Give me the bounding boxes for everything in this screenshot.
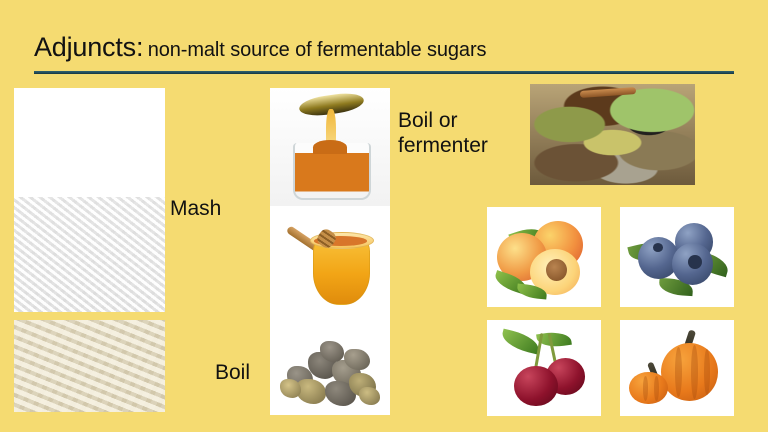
- pumpkin-rib-icon: [654, 376, 659, 401]
- honey-mound-icon: [313, 140, 347, 154]
- cherry-icon: [514, 366, 557, 406]
- image-cherries: [487, 320, 601, 416]
- middle-photo-panel: [270, 88, 390, 415]
- blueberry-calyx-icon: [688, 255, 702, 269]
- pumpkin-rib-icon: [675, 347, 682, 397]
- peach-pit-icon: [546, 259, 567, 281]
- pumpkin-rib-icon: [691, 345, 698, 399]
- image-blueberries: [620, 207, 734, 307]
- white-rice-icon: [14, 197, 165, 312]
- title-divider: [34, 71, 734, 74]
- sugar-rock: [359, 387, 381, 405]
- sugar-rock: [320, 341, 344, 362]
- title-main-text: Adjuncts:: [34, 32, 143, 62]
- image-candi-sugar: [270, 320, 390, 415]
- image-spices: [530, 84, 695, 185]
- image-rice: [14, 197, 165, 312]
- slide-canvas: Adjuncts: non-malt source of fermentable…: [0, 0, 768, 432]
- cherry-leaf-icon: [499, 329, 541, 355]
- pumpkin-rib-icon: [704, 349, 710, 395]
- corn-kernels-icon: [14, 88, 165, 197]
- image-oats: [14, 320, 165, 412]
- image-pumpkins: [620, 320, 734, 416]
- pumpkin-small-icon: [629, 372, 668, 405]
- label-boil-or-fermenter: Boil or fermenter: [398, 108, 488, 158]
- page-title: Adjuncts: non-malt source of fermentable…: [34, 32, 486, 63]
- rolled-oats-icon: [14, 320, 165, 412]
- cinnamon-stick-icon: [579, 87, 635, 98]
- image-honey-jar: [270, 208, 390, 316]
- sugar-rock: [280, 379, 302, 398]
- image-corn: [14, 88, 165, 197]
- image-honey-pour: [270, 88, 390, 206]
- image-peach: [487, 207, 601, 307]
- title-subtitle-text: non-malt source of fermentable sugars: [148, 39, 487, 61]
- label-boil: Boil: [215, 360, 250, 385]
- label-mash: Mash: [170, 196, 221, 221]
